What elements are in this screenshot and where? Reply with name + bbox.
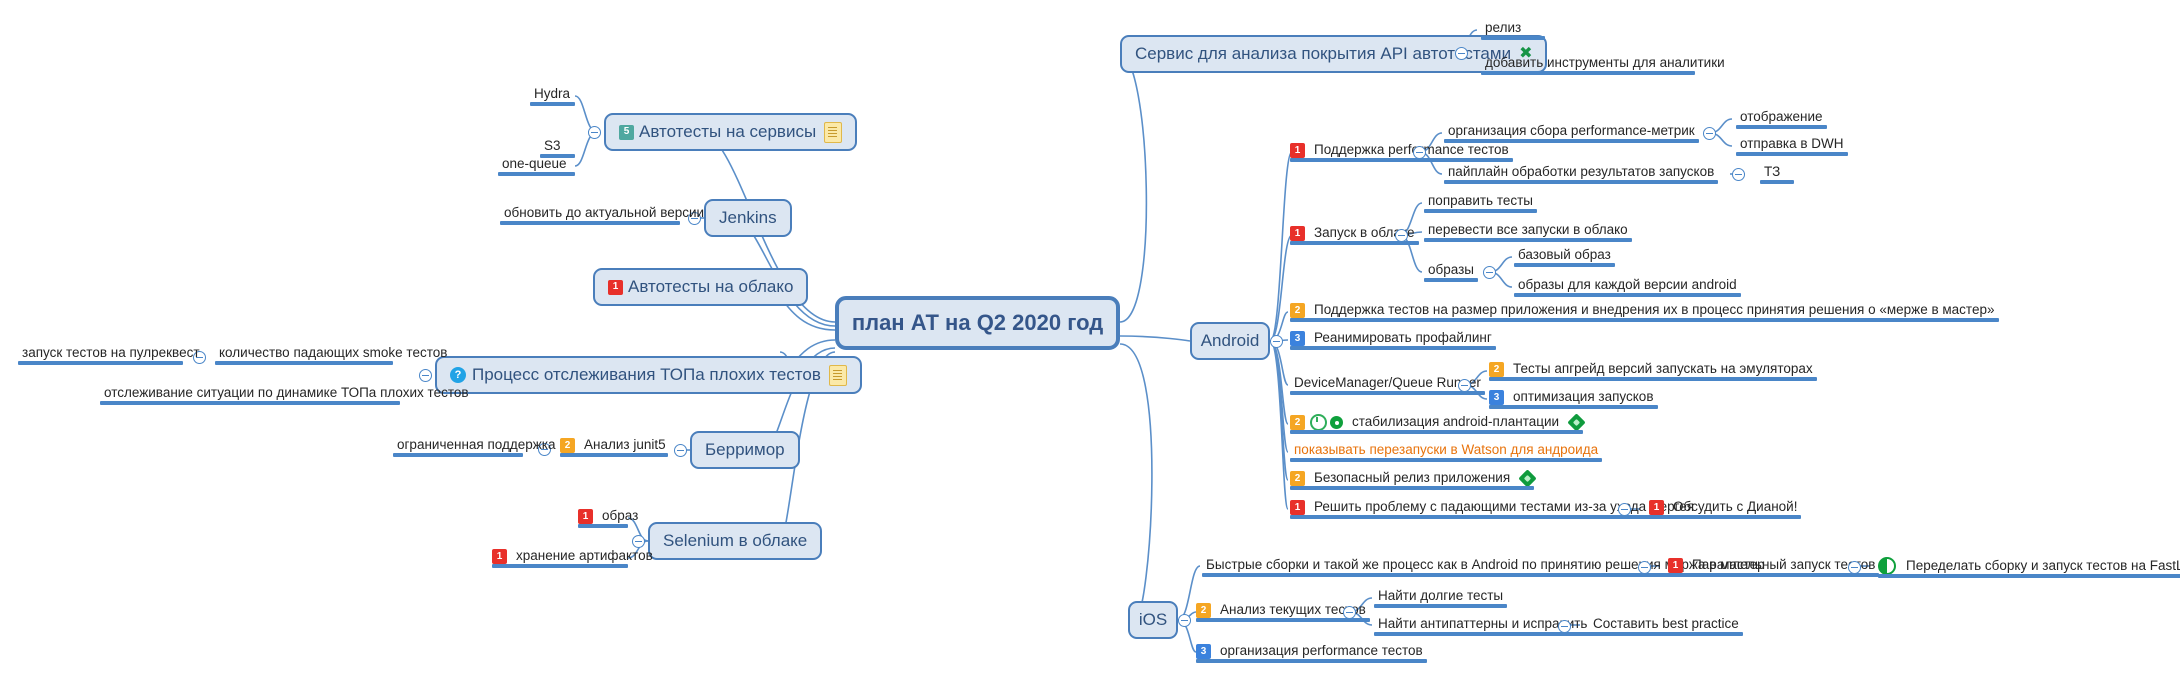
- node-label: Jenkins: [719, 208, 777, 228]
- half-circle-icon: [1878, 557, 1896, 575]
- priority-badge-2: 2: [560, 438, 575, 453]
- priority-badge-2: 2: [1290, 303, 1305, 318]
- node-label: Процесс отслеживания ТОПа плохих тестов: [472, 365, 821, 385]
- child-find-slow-tests[interactable]: Найти долгие тесты: [1374, 588, 1507, 605]
- child-add-analytics-tools[interactable]: добавить инструменты для аналитики: [1481, 55, 1695, 72]
- note-icon[interactable]: [824, 122, 842, 143]
- child-one-queue[interactable]: one-queue: [498, 156, 575, 173]
- node-ios[interactable]: iOS: [1128, 601, 1178, 639]
- child-images[interactable]: образы: [1424, 262, 1478, 279]
- child-release[interactable]: релиз: [1481, 20, 1545, 37]
- priority-badge-2: 2: [1290, 415, 1305, 430]
- collapse-handle-selenium-cloud[interactable]: [632, 535, 645, 548]
- child-send-to-dwh[interactable]: отправка в DWH: [1736, 136, 1848, 153]
- child-images-per-android-version[interactable]: образы для каждой версии android: [1514, 277, 1741, 294]
- node-label: iOS: [1139, 610, 1167, 630]
- node-selenium-cloud[interactable]: Selenium в облаке: [648, 522, 822, 560]
- node-berrymore[interactable]: Берримор: [690, 431, 800, 469]
- child-image[interactable]: 1 образ: [578, 508, 628, 525]
- priority-badge-3: 3: [1290, 331, 1305, 346]
- child-discuss-with-diana[interactable]: 1 Обсудить с Дианой!: [1649, 499, 1801, 516]
- priority-badge-2: 2: [1290, 471, 1305, 486]
- child-artifact-storage[interactable]: 1 хранение артифактов: [492, 548, 628, 565]
- node-jenkins[interactable]: Jenkins: [704, 199, 792, 237]
- collapse-handle-android[interactable]: [1270, 335, 1283, 348]
- child-fix-tests[interactable]: поправить тесты: [1424, 193, 1537, 210]
- child-fastlane-rebuild[interactable]: Переделать сборку и запуск тестов на Fas…: [1878, 557, 2180, 575]
- priority-badge-5: 5: [619, 125, 634, 140]
- node-label: Автотесты на сервисы: [639, 122, 816, 142]
- priority-badge-3: 3: [1196, 644, 1211, 659]
- collapse-handle-top-bad-tests[interactable]: [419, 369, 432, 382]
- collapse-handle-cloud-runs[interactable]: [1395, 229, 1408, 242]
- child-junit5-analysis[interactable]: 2 Анализ junit5: [560, 437, 668, 454]
- collapse-handle-berrymore[interactable]: [674, 444, 687, 457]
- collapse-handle-antipatterns[interactable]: [1558, 620, 1571, 633]
- child-device-manager[interactable]: DeviceManager/Queue Runner: [1290, 375, 1485, 392]
- priority-badge-1: 1: [1290, 226, 1305, 241]
- node-android[interactable]: Android: [1190, 322, 1270, 360]
- priority-badge-1: 1: [1668, 558, 1683, 573]
- diamond-icon: [1567, 413, 1585, 431]
- child-base-image[interactable]: базовый образ: [1514, 247, 1615, 264]
- collapse-handle-api-coverage[interactable]: [1455, 47, 1468, 60]
- priority-badge-1: 1: [1649, 500, 1664, 515]
- collapse-handle-perf-metrics[interactable]: [1703, 127, 1716, 140]
- node-top-bad-tests[interactable]: ? Процесс отслеживания ТОПа плохих тесто…: [435, 356, 862, 394]
- priority-badge-2: 2: [1196, 603, 1211, 618]
- question-icon: ?: [450, 367, 466, 383]
- child-best-practice[interactable]: Составить best practice: [1589, 616, 1743, 633]
- collapse-handle-parallel-run[interactable]: [1848, 561, 1861, 574]
- child-performance-tests-support[interactable]: 1 Поддержка performance тестов: [1290, 142, 1513, 159]
- priority-badge-3: 3: [1489, 390, 1504, 405]
- child-move-all-runs-to-cloud[interactable]: перевести все запуски в облако: [1424, 222, 1632, 239]
- child-s3[interactable]: S3: [540, 138, 575, 155]
- collapse-handle-tests-analysis[interactable]: [1343, 606, 1356, 619]
- node-autotests-services[interactable]: 5 Автотесты на сервисы: [604, 113, 857, 151]
- child-ios-performance-tests[interactable]: 3 организация performance тестов: [1196, 643, 1427, 660]
- node-label: Берримор: [705, 440, 785, 460]
- priority-badge-1: 1: [578, 509, 593, 524]
- node-autotests-cloud[interactable]: 1 Автотесты на облако: [593, 268, 808, 306]
- child-perf-metrics-collection[interactable]: организация сбора performance-метрик: [1444, 123, 1699, 140]
- root-node[interactable]: план АТ на Q2 2020 год: [835, 296, 1120, 350]
- priority-badge-2: 2: [1489, 362, 1504, 377]
- collapse-handle-device-manager[interactable]: [1458, 379, 1471, 392]
- priority-badge-1: 1: [492, 549, 507, 564]
- collapse-handle-images[interactable]: [1483, 266, 1496, 279]
- root-label: план АТ на Q2 2020 год: [852, 310, 1103, 336]
- child-tz[interactable]: ТЗ: [1760, 164, 1794, 181]
- child-safe-release[interactable]: 2 Безопасный релиз приложения: [1290, 470, 1534, 487]
- green-dot-icon: [1330, 416, 1343, 429]
- child-display[interactable]: отображение: [1736, 109, 1827, 126]
- collapse-handle-sergey[interactable]: [1618, 503, 1631, 516]
- collapse-handle-results-pipeline[interactable]: [1732, 168, 1745, 181]
- collapse-handle-performance-tests[interactable]: [1413, 146, 1426, 159]
- child-sergey-failing-tests[interactable]: 1 Решить проблему с падающими тестами из…: [1290, 499, 1698, 516]
- node-label: Android: [1201, 331, 1260, 351]
- child-hydra[interactable]: Hydra: [530, 86, 575, 103]
- child-update-to-latest[interactable]: обновить до актуальной версии: [500, 205, 680, 222]
- priority-badge-1: 1: [608, 280, 623, 295]
- child-run-optimization[interactable]: 3 оптимизация запусков: [1489, 389, 1658, 406]
- child-revive-profiling[interactable]: 3 Реанимировать профайлинг: [1290, 330, 1496, 347]
- mindmap-canvas: план АТ на Q2 2020 год 5 Автотесты на се…: [0, 0, 2180, 679]
- collapse-handle-autotests-services[interactable]: [588, 126, 601, 139]
- child-android-plantation-stabilization[interactable]: 2 стабилизация android-плантации: [1290, 414, 1583, 431]
- clock-icon: [1310, 414, 1327, 431]
- node-label: Автотесты на облако: [628, 277, 793, 297]
- diamond-icon: [1518, 469, 1536, 487]
- note-icon[interactable]: [829, 365, 847, 386]
- child-limited-support[interactable]: ограниченная поддержка: [393, 437, 523, 454]
- child-run-tests-on-pr[interactable]: запуск тестов на пулреквест: [18, 345, 183, 362]
- child-smoke-fail-count[interactable]: количество падающих smoke тестов: [215, 345, 393, 362]
- collapse-handle-fast-builds[interactable]: [1638, 561, 1651, 574]
- node-label: Selenium в облаке: [663, 531, 807, 551]
- child-app-size-tests[interactable]: 2 Поддержка тестов на размер приложения …: [1290, 302, 1999, 319]
- priority-badge-1: 1: [1290, 500, 1305, 515]
- child-results-pipeline[interactable]: пайплайн обработки результатов запусков: [1444, 164, 1718, 181]
- collapse-handle-ios[interactable]: [1178, 614, 1191, 627]
- child-upgrade-tests-emulators[interactable]: 2 Тесты апгрейд версий запускать на эмул…: [1489, 361, 1817, 378]
- child-top-dynamics-tracking[interactable]: отслеживание ситуации по динамике ТОПа п…: [100, 385, 400, 402]
- child-watson-restarts[interactable]: показывать перезапуски в Watson для андр…: [1290, 442, 1602, 459]
- priority-badge-1: 1: [1290, 143, 1305, 158]
